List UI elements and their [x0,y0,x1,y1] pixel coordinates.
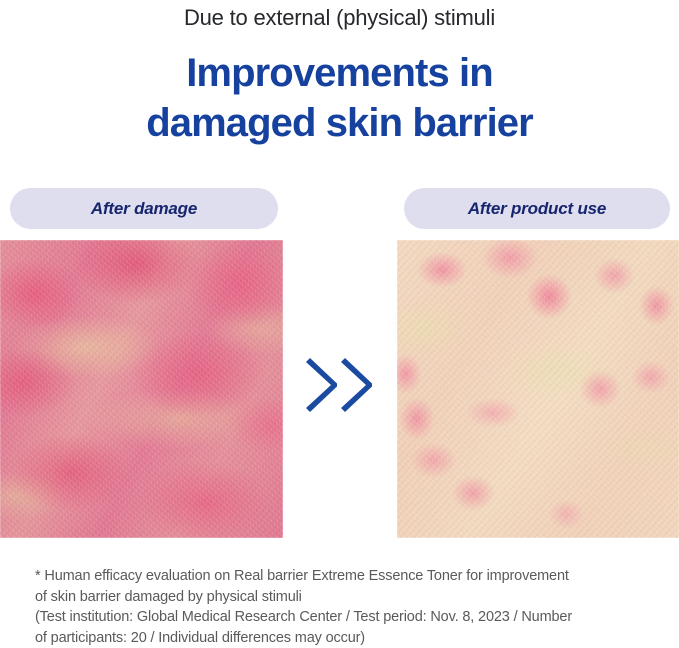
subtitle: Due to external (physical) stimuli [0,3,679,33]
before-skin-texture [0,240,283,538]
footnote-line-1: * Human efficacy evaluation on Real barr… [35,566,655,587]
footnote-line-3: (Test institution: Global Medical Resear… [35,607,655,628]
after-skin-photo [397,240,679,538]
double-chevron-right-icon [303,358,377,412]
footnote: * Human efficacy evaluation on Real barr… [35,566,655,648]
skincare-efficacy-infographic: Due to external (physical) stimuli Impro… [0,0,679,648]
after-skin-texture [397,240,679,538]
footnote-line-2: of skin barrier damaged by physical stim… [35,587,655,608]
footnote-line-4: of participants: 20 / Individual differe… [35,628,655,648]
before-label-pill: After damage [10,188,278,229]
before-skin-photo [0,240,283,538]
headline-line-1: Improvements in [0,48,679,98]
before-label-text: After damage [91,199,197,219]
after-label-pill: After product use [404,188,670,229]
headline-line-2: damaged skin barrier [0,98,679,148]
page-title: Improvements in damaged skin barrier [0,48,679,148]
after-label-text: After product use [468,199,606,219]
